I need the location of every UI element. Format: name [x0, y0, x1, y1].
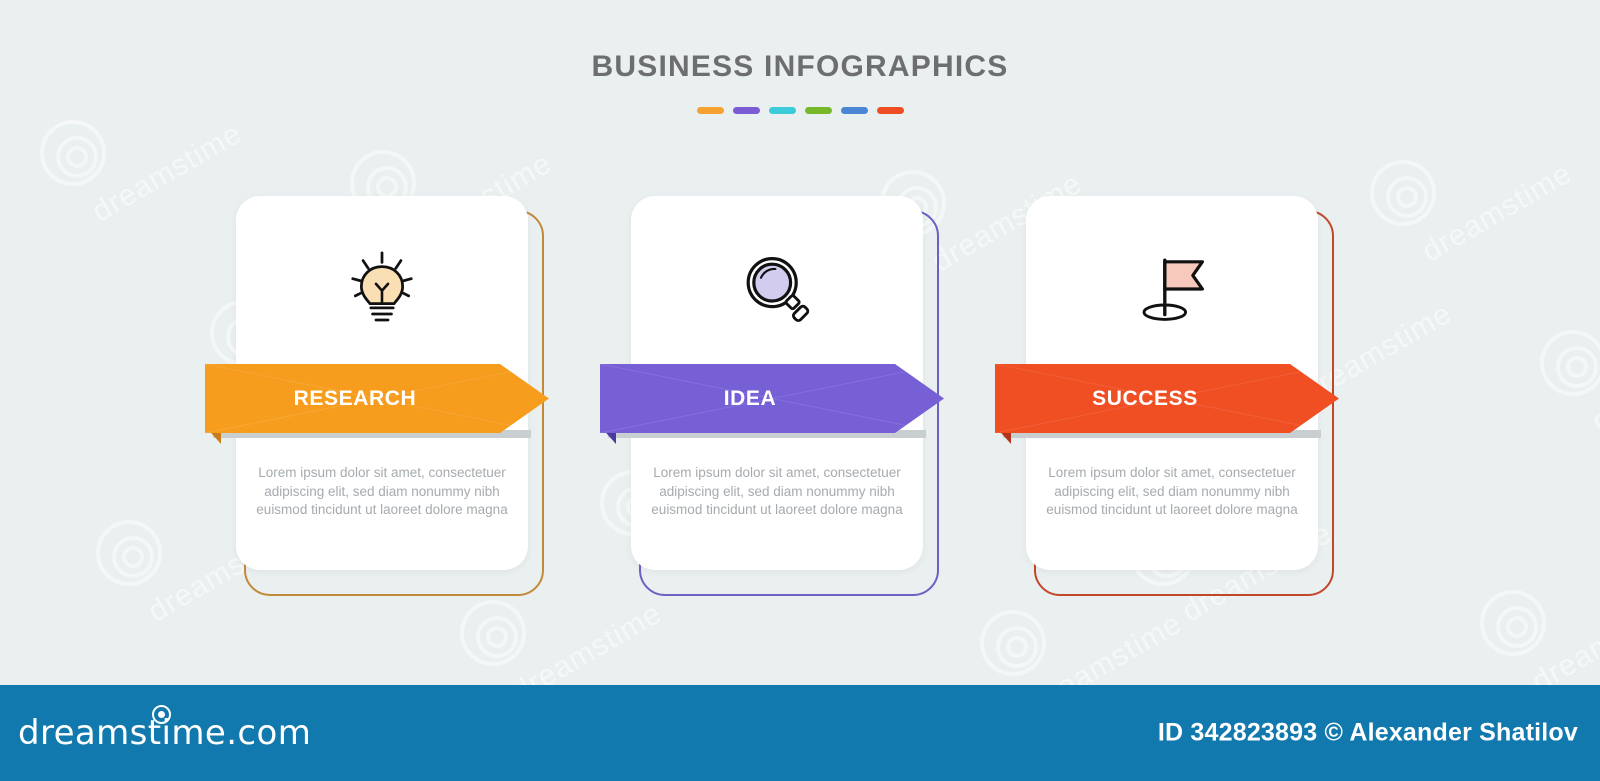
- dash-purple: [733, 107, 760, 114]
- magnifier-icon: [631, 244, 923, 334]
- ribbon-label-research: RESEARCH: [205, 364, 505, 433]
- infographic-card-research[interactable]: RESEARCHLorem ipsum dolor sit amet, cons…: [236, 196, 536, 596]
- dash-green: [805, 107, 832, 114]
- flag-icon: [1026, 244, 1318, 334]
- watermark-spiral-icon: [980, 610, 1046, 676]
- card-ribbon-success[interactable]: SUCCESS: [995, 364, 1365, 444]
- dash-blue: [841, 107, 868, 114]
- watermark-spiral-icon: [40, 120, 106, 186]
- dreamstime-spiral-icon: [152, 705, 171, 724]
- infographic-card-idea[interactable]: IDEALorem ipsum dolor sit amet, consecte…: [631, 196, 931, 596]
- infographic-cards: RESEARCHLorem ipsum dolor sit amet, cons…: [0, 196, 1600, 606]
- color-dash-row: [0, 107, 1600, 114]
- card-description-success: Lorem ipsum dolor sit amet, consectetuer…: [1044, 464, 1300, 520]
- dash-cyan: [769, 107, 796, 114]
- image-credit: ID 342823893 © Alexander Shatilov: [1158, 719, 1578, 748]
- card-ribbon-research[interactable]: RESEARCH: [205, 364, 575, 444]
- card-ribbon-idea[interactable]: IDEA: [600, 364, 970, 444]
- page-title: BUSINESS INFOGRAPHICS: [0, 50, 1600, 84]
- card-description-idea: Lorem ipsum dolor sit amet, consectetuer…: [649, 464, 905, 520]
- card-description-research: Lorem ipsum dolor sit amet, consectetuer…: [254, 464, 510, 520]
- ribbon-label-idea: IDEA: [600, 364, 900, 433]
- watermark-spiral-icon: [460, 600, 526, 666]
- ribbon-label-success: SUCCESS: [995, 364, 1295, 433]
- infographic-card-success[interactable]: SUCCESSLorem ipsum dolor sit amet, conse…: [1026, 196, 1326, 596]
- header: BUSINESS INFOGRAPHICS: [0, 0, 1600, 114]
- lightbulb-icon: [236, 244, 528, 334]
- dash-red: [877, 107, 904, 114]
- dash-orange: [697, 107, 724, 114]
- footer-watermark-bar: dreamstime.com ID 342823893 © Alexander …: [0, 685, 1600, 781]
